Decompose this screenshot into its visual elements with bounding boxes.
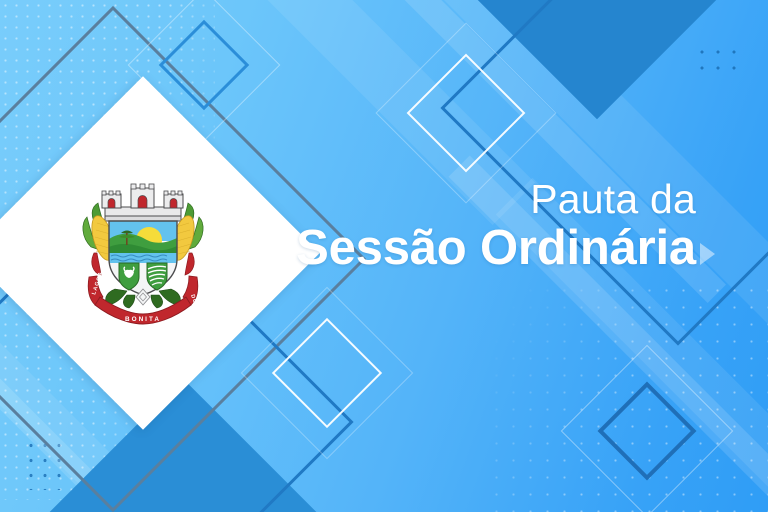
decorative-diamond-top-left [159, 20, 250, 111]
headline-line-2: Sessão Ordinária [296, 223, 696, 274]
diamond-inner-ring [598, 382, 697, 481]
municipal-coat-of-arms: LAGOA BONITA DO SUL [18, 128, 268, 378]
dot-cluster-top-right [694, 44, 740, 76]
arrow-tip-icon [700, 243, 715, 265]
dot-pattern-bottom-right [488, 282, 768, 512]
dot-cluster-bottom-left [24, 438, 66, 490]
decorative-diamond-bottom-right [598, 382, 697, 481]
diagonal-stripe-2 [377, 0, 768, 328]
ribbon-text-center: BONITA [125, 316, 161, 323]
diamond-inner-ring [159, 20, 250, 111]
chevron-outline-blue-top [440, 0, 768, 346]
diamond-inner-ring [407, 54, 526, 173]
ribbon-text-right: DO SUL [189, 294, 203, 321]
diamond-outer-ring [561, 345, 734, 512]
headline-line-1: Pauta da [296, 178, 696, 221]
decorative-diamond-bottom-center [272, 318, 382, 428]
accent-triangle-bottom-left [49, 379, 318, 512]
session-agenda-banner: LAGOA BONITA DO SUL Pauta da Sessão Ordi… [0, 0, 768, 512]
diamond-inner-ring [272, 318, 382, 428]
banner-headline: Pauta da Sessão Ordinária [296, 178, 696, 274]
coat-of-arms-icon: LAGOA BONITA DO SUL [69, 177, 217, 329]
decorative-diamond-top-center [407, 54, 526, 173]
accent-triangle-top-right [477, 0, 717, 119]
